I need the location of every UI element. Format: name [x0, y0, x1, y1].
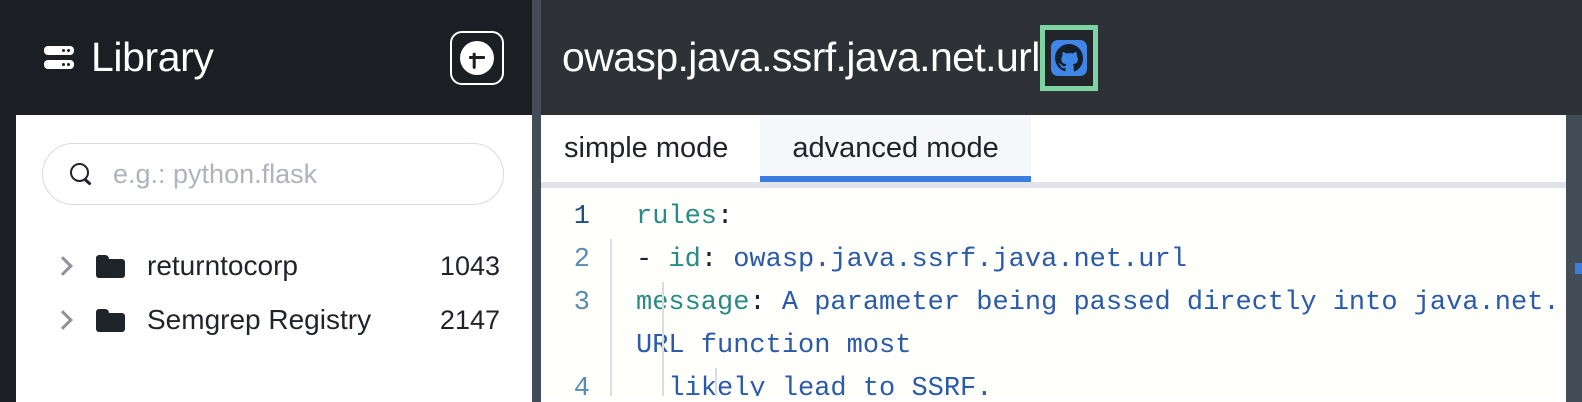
yaml-value-continuation: URL function most [636, 331, 911, 361]
line-number: 2 [532, 239, 598, 282]
semgrep-rule-editor-window: Library returntocorp 1043 [0, 0, 1582, 402]
tree-item-count: 2147 [440, 305, 500, 336]
code-area[interactable]: 1 rules: 2 - id: owasp.java.ssrf.java.ne… [532, 188, 1582, 396]
indent-guide [610, 282, 612, 325]
code-line-text[interactable]: rules: [598, 196, 1582, 239]
tree-item-returntocorp[interactable]: returntocorp 1043 [42, 239, 504, 293]
line-number: 4 [532, 368, 598, 396]
code-line-text[interactable]: message: A parameter being passed direct… [598, 282, 1582, 325]
tree-item-label: Semgrep Registry [147, 304, 371, 336]
panel-divider-handle[interactable] [532, 0, 541, 402]
yaml-value: A parameter being passed directly into j… [782, 288, 1560, 318]
tab-label: simple mode [564, 132, 728, 165]
chevron-right-icon[interactable] [52, 255, 74, 277]
code-line-text[interactable]: - id: owasp.java.ssrf.java.net.url [598, 239, 1582, 282]
folder-icon [96, 255, 125, 278]
tree-item-label: returntocorp [147, 250, 298, 282]
code-line: 4 likely lead to SSRF. [532, 368, 1582, 396]
add-rule-button[interactable] [450, 31, 504, 85]
tree-item-count: 1043 [440, 251, 500, 282]
yaml-punctuation: : [749, 288, 781, 318]
yaml-dash: - [636, 245, 668, 275]
sidebar-header: Library [0, 0, 532, 115]
indent-guide [610, 325, 612, 368]
indent-guide [662, 282, 664, 325]
indent-guide [715, 368, 717, 396]
page-title: owasp.java.ssrf.java.net.url [562, 34, 1040, 81]
indent-guide [610, 368, 612, 396]
yaml-key: id [668, 245, 700, 275]
github-icon[interactable] [1051, 40, 1087, 76]
main-panel: owasp.java.ssrf.java.net.url simple mode… [532, 0, 1582, 402]
sidebar-body: returntocorp 1043 Semgrep Registry 2147 [16, 115, 532, 402]
vertical-scrollbar[interactable] [1566, 115, 1582, 402]
code-line: 3 message: A parameter being passed dire… [532, 282, 1582, 325]
library-stack-icon [44, 45, 74, 71]
indent-guide [610, 239, 612, 282]
plus-circle-icon [460, 41, 494, 75]
code-line-wrapped: URL function most [532, 325, 1582, 368]
line-number: 1 [532, 196, 598, 239]
tab-label: advanced mode [792, 132, 998, 165]
yaml-key: rules [636, 202, 717, 232]
library-sidebar: Library returntocorp 1043 [0, 0, 532, 402]
yaml-key: message [636, 288, 749, 318]
search-icon [69, 162, 93, 186]
code-line-text[interactable]: URL function most [598, 325, 1582, 368]
chevron-right-icon[interactable] [52, 309, 74, 331]
folder-icon [96, 309, 125, 332]
scrollbar-marker [1575, 263, 1582, 274]
yaml-punctuation: : [701, 245, 733, 275]
main-header: owasp.java.ssrf.java.net.url [532, 0, 1582, 115]
tab-simple-mode[interactable]: simple mode [532, 115, 760, 182]
library-tree: returntocorp 1043 Semgrep Registry 2147 [42, 239, 504, 347]
indent-guide [662, 325, 664, 368]
yaml-code-editor[interactable]: 1 rules: 2 - id: owasp.java.ssrf.java.ne… [532, 188, 1582, 396]
code-line-text[interactable]: likely lead to SSRF. [598, 368, 1582, 396]
indent-guide [662, 368, 664, 396]
mode-tabs: simple mode advanced mode [532, 115, 1582, 188]
tab-advanced-mode[interactable]: advanced mode [760, 115, 1030, 182]
search-box[interactable] [42, 143, 504, 205]
yaml-value: likely lead to SSRF. [636, 374, 992, 396]
yaml-punctuation: : [717, 202, 733, 232]
code-line: 1 rules: [532, 196, 1582, 239]
search-input[interactable] [113, 159, 477, 190]
line-number: 3 [532, 282, 598, 325]
code-line: 2 - id: owasp.java.ssrf.java.net.url [532, 239, 1582, 282]
library-title: Library [91, 37, 214, 78]
tree-item-semgrep-registry[interactable]: Semgrep Registry 2147 [42, 293, 504, 347]
yaml-value: owasp.java.ssrf.java.net.url [733, 245, 1187, 275]
github-link-highlight[interactable] [1040, 25, 1098, 91]
